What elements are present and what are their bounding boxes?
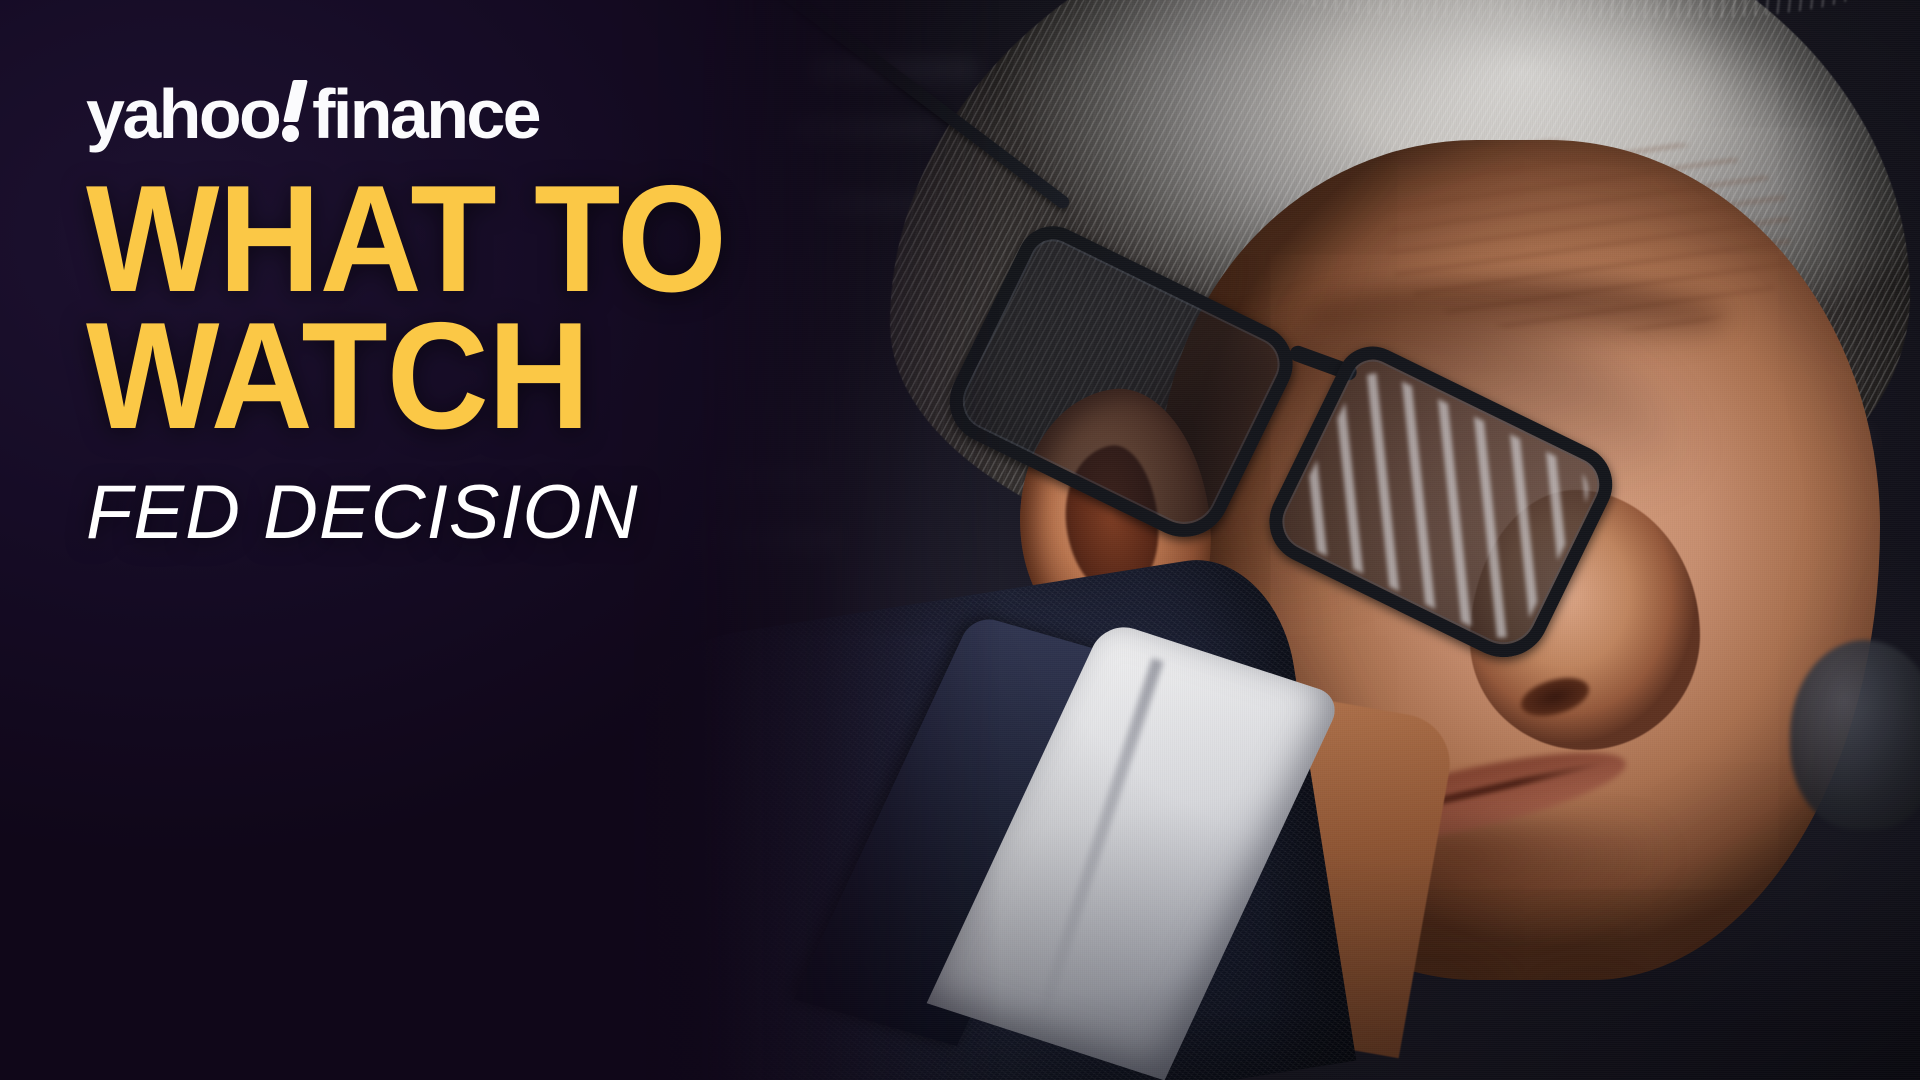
title-content: yahoo finance WHAT TO WATCH FED DECISION (0, 0, 1000, 1080)
page-subtitle: FED DECISION (86, 475, 1000, 551)
yahoo-finance-logo: yahoo finance (86, 76, 1000, 149)
logo-yahoo-text: yahoo (86, 79, 279, 149)
logo-finance-text: finance (312, 79, 539, 149)
title-card: yahoo finance WHAT TO WATCH FED DECISION (0, 0, 1920, 1080)
page-title: WHAT TO WATCH (86, 171, 936, 445)
headline-line-2: WATCH (86, 308, 936, 445)
exclamation-icon (280, 80, 310, 142)
